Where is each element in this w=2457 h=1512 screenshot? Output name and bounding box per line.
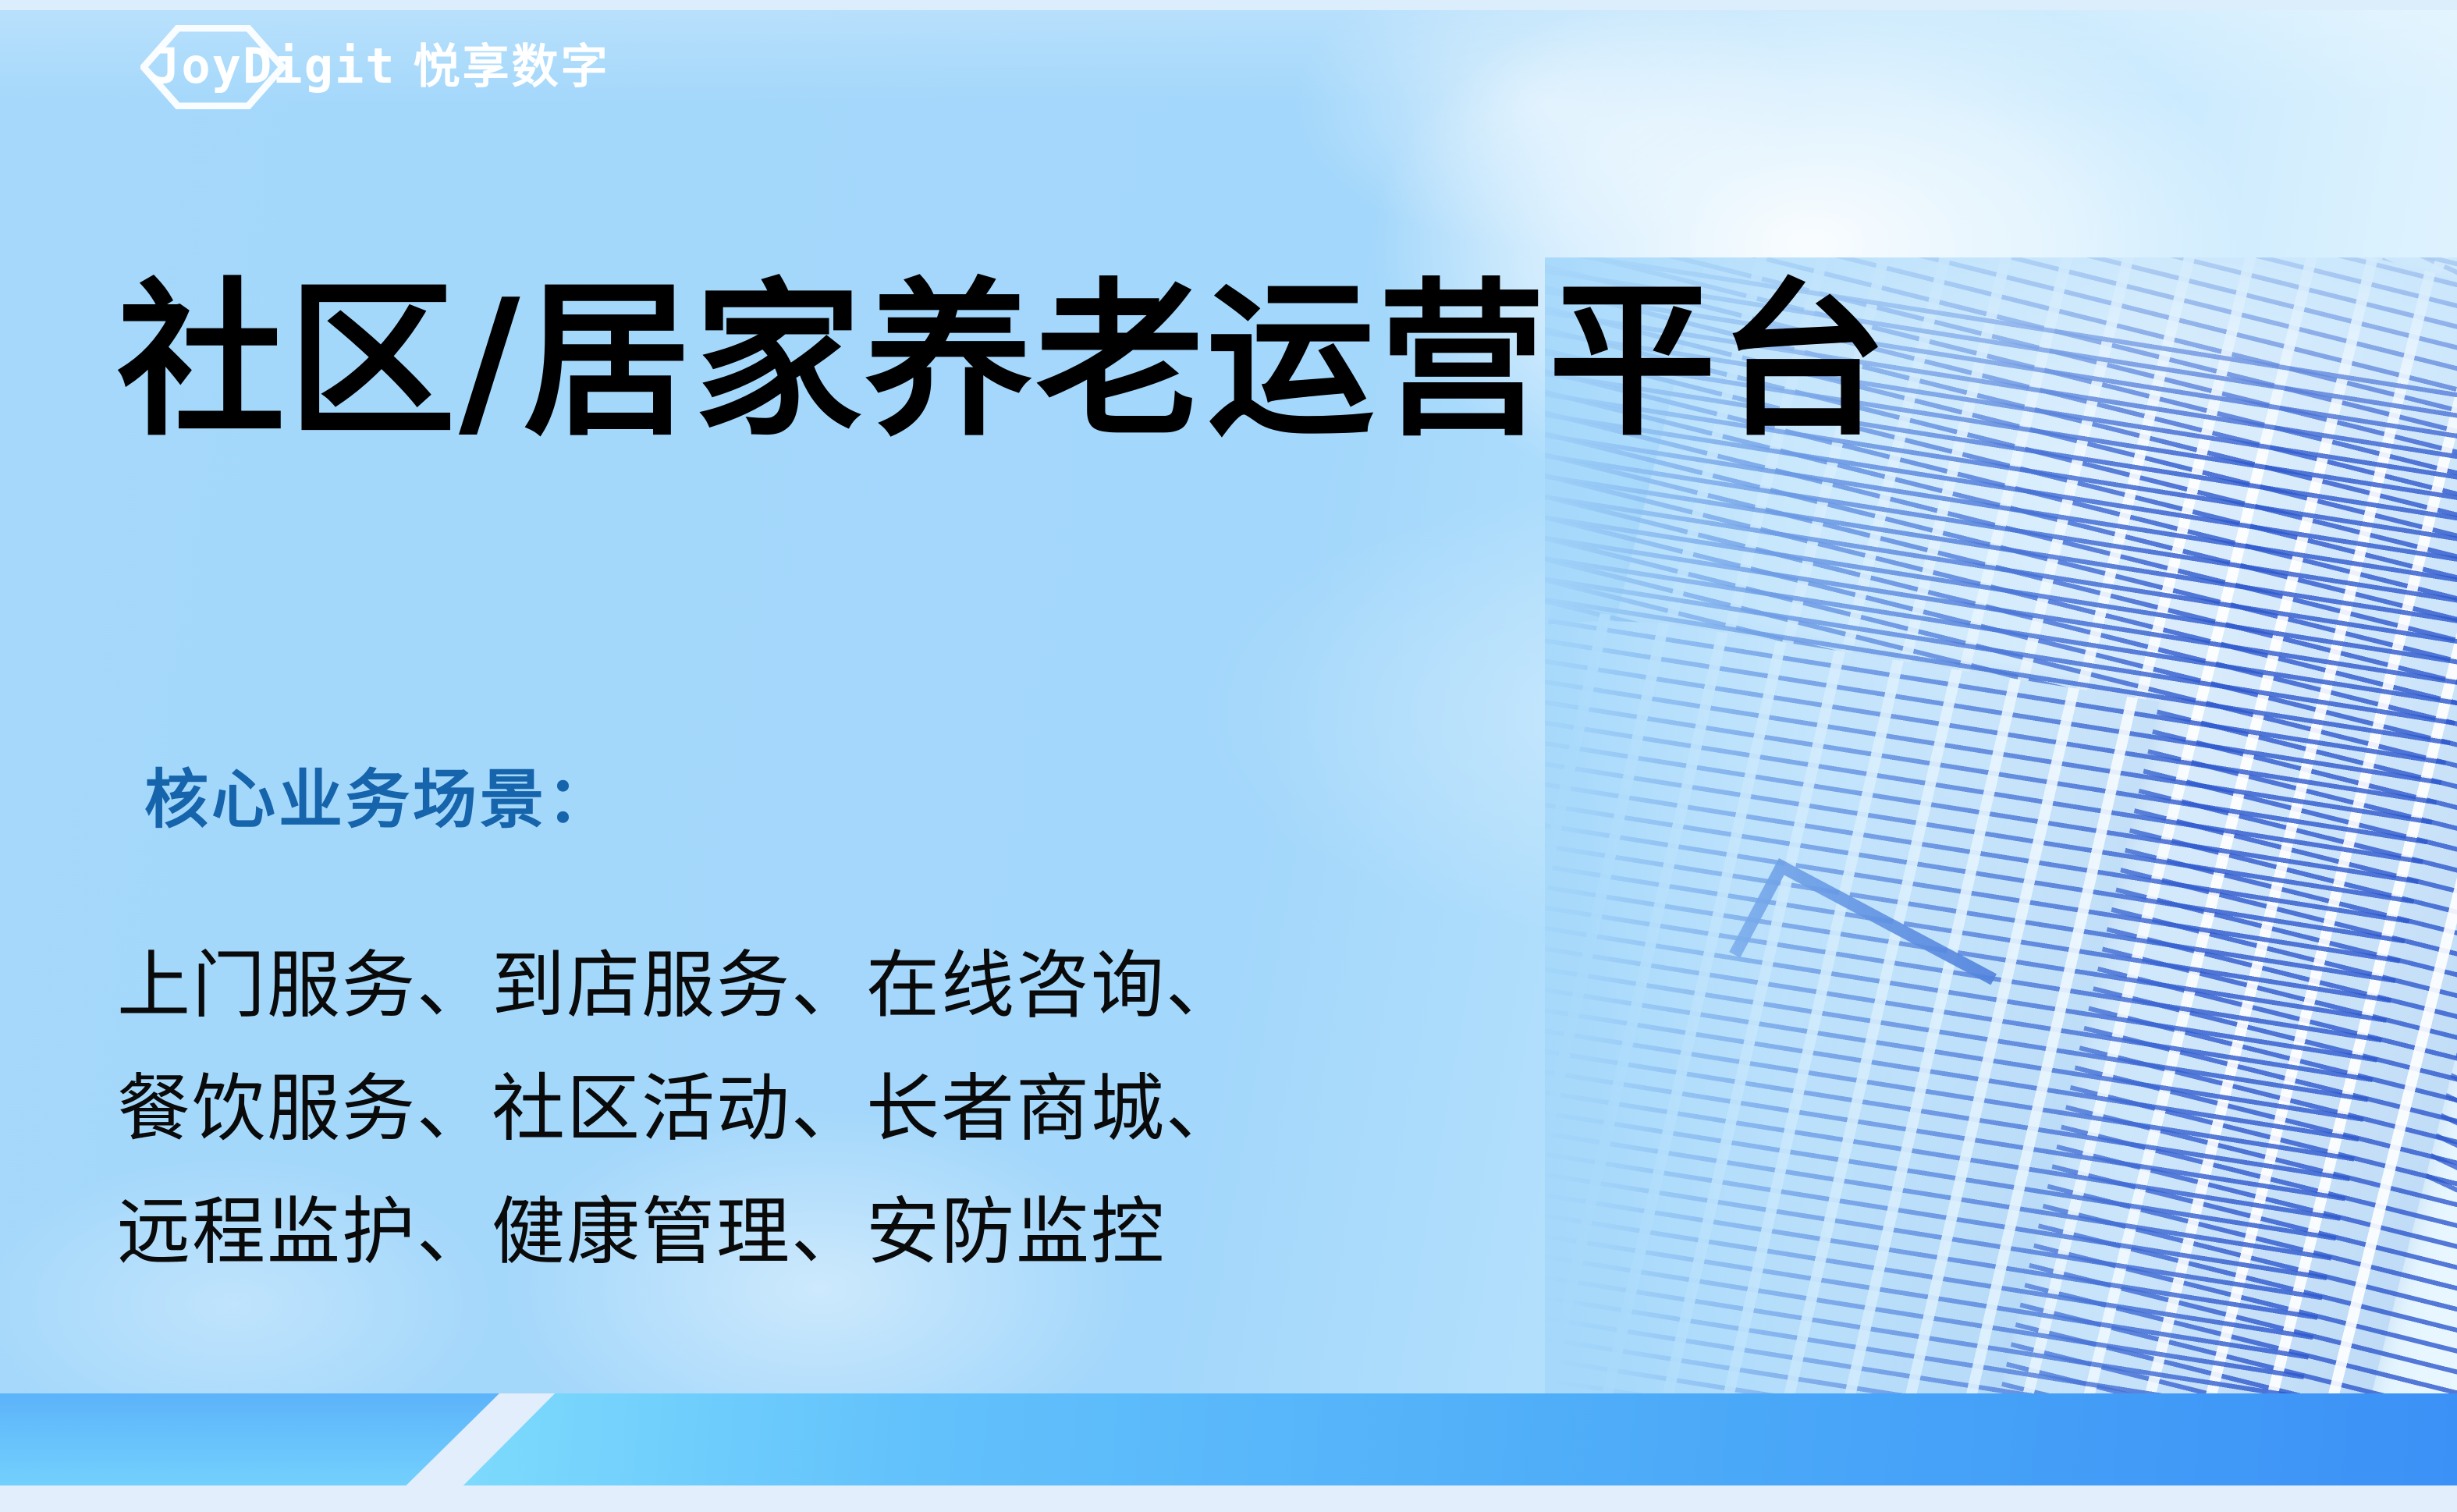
scenario-line: 上门服务、到店服务、在线咨询、 [117,925,1241,1048]
brand-logo: JoyDigit 悦享数字 [137,23,610,109]
scenario-list: 上门服务、到店服务、在线咨询、 餐饮服务、社区活动、长者商城、 远程监护、健康管… [117,925,1241,1294]
top-edge-strip [0,0,2457,10]
slide-canvas: JoyDigit 悦享数字 社区/居家养老运营平台 核心业务场景： 上门服务、到… [0,0,2457,1512]
bottom-decorative-band [0,1393,2457,1512]
page-title: 社区/居家养老运营平台 [117,277,1891,445]
scenario-line: 餐饮服务、社区活动、长者商城、 [117,1048,1241,1171]
band-bottom-line [0,1485,2457,1512]
brand-logo-text: JoyDigit 悦享数字 [151,42,610,91]
section-heading: 核心业务场景： [144,768,614,832]
scenario-line: 远程监护、健康管理、安防监控 [117,1171,1241,1294]
brand-logo-chinese: 悦享数字 [414,44,610,91]
brand-logo-mark: JoyDigit [151,42,396,91]
